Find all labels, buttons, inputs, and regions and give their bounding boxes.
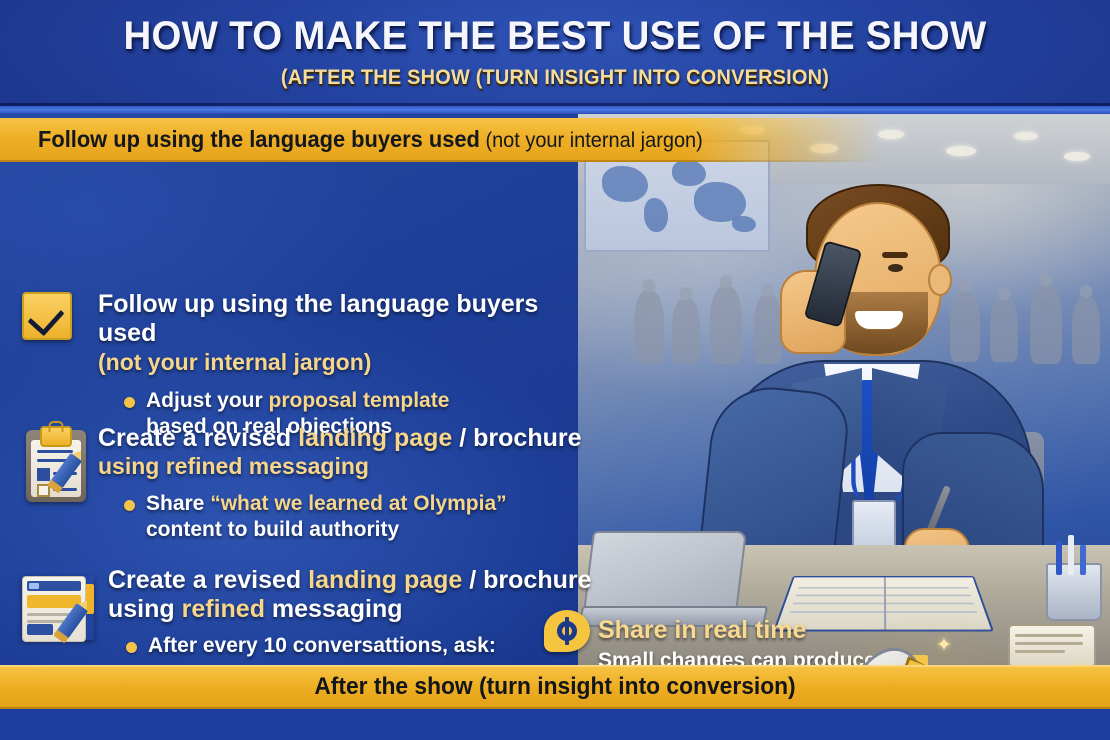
laptop-screen [583, 531, 747, 613]
businessman-figure [706, 132, 1036, 602]
content-block-1: Follow up using the language buyers used… [22, 290, 600, 440]
content-block-3: Create a revised landing page / brochure… [22, 566, 592, 665]
bottom-band-text: After the show (turn insight into conver… [28, 673, 1083, 701]
megaphone-illustration: ✦ ✦ ✦ [818, 612, 1110, 665]
footer-strip [0, 709, 1110, 740]
block1-subheading: (not your internal jargon) [98, 349, 600, 377]
top-band-text: Follow up using the language buyers used… [38, 126, 703, 153]
top-band-bold: Follow up using the language buyers used [38, 126, 480, 152]
gear-speech-bubble-icon [544, 610, 590, 652]
crowd-figure [672, 298, 700, 364]
speech-bubble [1008, 624, 1096, 665]
block2-heading-part2: / brochure [452, 424, 581, 452]
content-column: Follow up using the language buyers used… [0, 228, 600, 665]
eyebrow-right [882, 252, 908, 258]
block3-heading-part2: / brochure [462, 566, 591, 594]
block3-sub-highlight: refined [182, 595, 265, 623]
content-block-2: Create a revised landing page / brochure… [22, 424, 582, 543]
header-divider-stripe [0, 106, 1110, 114]
ear [928, 264, 952, 296]
block3-subheading: using refined messaging [108, 595, 592, 624]
infographic-poster: HOW TO MAKE THE BEST USE OF THE SHOW (AF… [0, 0, 1110, 740]
block1-bullet-highlight: proposal template [269, 389, 450, 412]
sparkle-icon: ✦ [936, 634, 952, 657]
block2-bullet-lead: Share [146, 492, 210, 515]
block3-heading: Create a revised landing page / brochure [108, 566, 592, 595]
top-band-normal: (not your internal jargon) [480, 129, 703, 152]
block3-sub-part1: using [108, 595, 182, 623]
crowd-figure [634, 290, 664, 364]
checkbox-icon [22, 292, 72, 340]
block1-heading: Follow up using the language buyers used [98, 290, 600, 349]
block1-bullet-lead: Adjust your [146, 389, 269, 412]
crowd-figure [1072, 296, 1100, 364]
block2-heading-part1: Create a revised [98, 424, 298, 452]
block2-heading-highlight: landing page [298, 424, 452, 452]
poster-body: Follow up using the language buyers used… [0, 114, 1110, 665]
eye-right [888, 264, 903, 272]
block2-bullet-highlight: “what we learned at Olympia” [210, 492, 506, 515]
block2-bullet-continuation: content to build authority [146, 517, 582, 543]
illustration-businessman-on-phone [578, 114, 1110, 665]
block2-heading: Create a revised landing page / brochure [98, 424, 582, 453]
clipboard-pencil-icon [26, 430, 86, 502]
page-title: HOW TO MAKE THE BEST USE OF THE SHOW [22, 14, 1088, 59]
block2-subheading: using refined messaging [98, 453, 582, 481]
block3-heading-part1: Create a revised [108, 566, 308, 594]
smiling-mouth [854, 310, 904, 330]
block3-sub-part2: messaging [265, 595, 403, 623]
share-heading: Share in real time [598, 616, 806, 644]
block3-heading-highlight: landing page [308, 566, 462, 594]
block2-bullet: Share “what we learned at Olympia” conte… [120, 491, 582, 543]
poster-header: HOW TO MAKE THE BEST USE OF THE SHOW (AF… [0, 0, 1110, 106]
landing-page-pencil-icon [22, 576, 94, 640]
block3-bullet-1: After every 10 conversattions, ask: [122, 633, 592, 659]
page-subtitle: (AFTER THE SHOW (TURN INSIGHT INTO CONVE… [28, 66, 1083, 90]
